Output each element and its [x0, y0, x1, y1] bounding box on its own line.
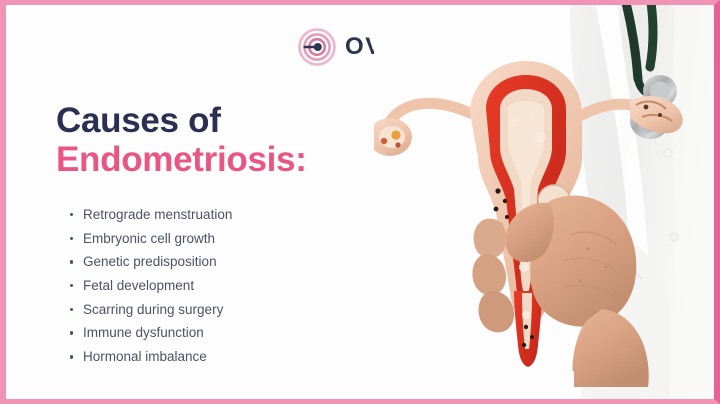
- list-item: Embryonic cell growth: [68, 232, 232, 246]
- list-item: Genetic predisposition: [68, 255, 232, 269]
- list-item: Fetal development: [68, 279, 232, 293]
- page-title: Causes of Endometriosis:: [56, 103, 307, 178]
- page-title-line1: Causes of: [56, 103, 307, 139]
- list-item: Retrograde menstruation: [68, 208, 232, 222]
- list-item: Hormonal imbalance: [68, 350, 232, 364]
- list-item: Immune dysfunction: [68, 326, 232, 340]
- causes-list: Retrograde menstruation Embryonic cell g…: [68, 208, 232, 374]
- medical-photo: [374, 5, 714, 399]
- list-item: Scarring during surgery: [68, 303, 232, 317]
- slide-canvas: OVORIA Causes of Endometriosis: Retrogra…: [0, 0, 720, 404]
- page-title-line2: Endometriosis:: [56, 142, 307, 178]
- spiral-target-icon: [298, 28, 336, 66]
